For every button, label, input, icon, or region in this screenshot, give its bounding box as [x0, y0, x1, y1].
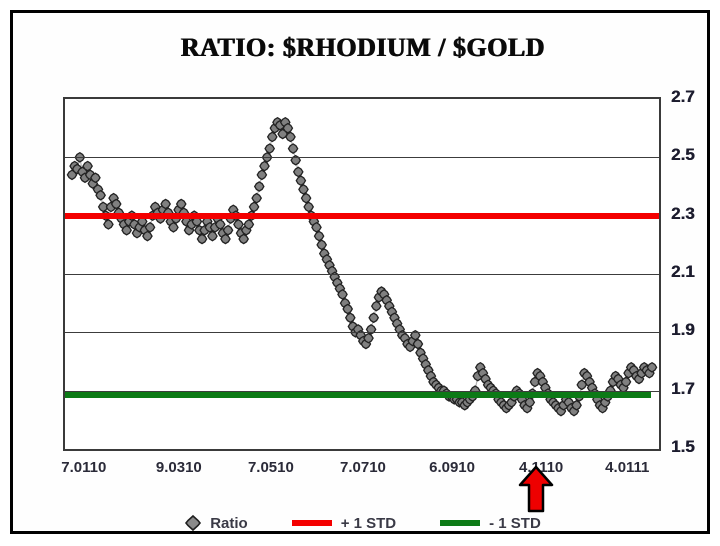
green-line-swatch-icon: [440, 520, 480, 526]
y-axis-tick-label: 1.9: [671, 320, 720, 340]
data-point-marker: [369, 313, 378, 322]
y-axis-tick-label: 1.7: [671, 379, 720, 399]
y-axis-tick-label: 2.7: [671, 87, 720, 107]
x-axis-tick-label: 9.0310: [156, 459, 202, 476]
y-axis-tick-label: 2.3: [671, 204, 720, 224]
data-point-marker: [647, 363, 656, 372]
data-point-marker: [83, 161, 92, 170]
data-point-marker: [525, 398, 534, 407]
x-axis-tick-label: 7.0510: [248, 459, 294, 476]
x-axis-tick-label: 7.0710: [340, 459, 386, 476]
data-point-marker: [572, 401, 581, 410]
data-point-marker: [122, 226, 131, 235]
y-axis-tick-label: 2.5: [671, 145, 720, 165]
data-point-marker: [104, 220, 113, 229]
data-point-marker: [294, 167, 303, 176]
y-axis-tick-label: 1.5: [671, 437, 720, 457]
data-point-marker: [91, 173, 100, 182]
data-point-marker: [177, 199, 186, 208]
legend-label-ratio: Ratio: [210, 515, 248, 532]
chart-frame: RATIO: $RHODIUM / $GOLD 2.72.52.32.11.91…: [10, 10, 710, 534]
data-point-marker: [161, 199, 170, 208]
data-point-marker: [301, 194, 310, 203]
gridline: [65, 332, 659, 333]
data-point-marker: [338, 290, 347, 299]
data-point-marker: [314, 231, 323, 240]
data-point-marker: [257, 170, 266, 179]
x-axis-tick-label: 6.0910: [429, 459, 475, 476]
gridline: [65, 274, 659, 275]
data-point-marker: [286, 132, 295, 141]
data-point-marker: [304, 202, 313, 211]
data-point-marker: [112, 199, 121, 208]
legend-item-ratio: Ratio: [185, 515, 248, 532]
data-point-marker: [299, 185, 308, 194]
data-point-marker: [169, 223, 178, 232]
data-point-marker: [296, 176, 305, 185]
data-point-marker: [223, 226, 232, 235]
data-point-marker: [312, 223, 321, 232]
data-point-marker: [96, 191, 105, 200]
minus-1-std-line: [65, 392, 651, 398]
data-point-marker: [143, 231, 152, 240]
x-axis-tick-label: 4.0111: [605, 459, 649, 476]
legend-item-minus-1-std: - 1 STD: [440, 515, 541, 532]
legend-item-plus-1-std: + 1 STD: [292, 515, 396, 532]
data-point-marker: [413, 339, 422, 348]
data-point-marker: [221, 234, 230, 243]
x-axis-tick-label: 7.0110: [61, 459, 106, 476]
data-point-marker: [621, 377, 630, 386]
chart-screenshot: RATIO: $RHODIUM / $GOLD 2.72.52.32.11.91…: [0, 0, 720, 546]
legend-label-plus-1-std: + 1 STD: [341, 515, 396, 532]
data-point-marker: [208, 231, 217, 240]
data-point-marker: [255, 182, 264, 191]
data-point-marker: [234, 220, 243, 229]
data-point-marker: [346, 313, 355, 322]
red-line-swatch-icon: [292, 520, 332, 526]
gridline: [65, 157, 659, 158]
data-point-marker: [260, 161, 269, 170]
data-point-marker: [249, 202, 258, 211]
data-point-marker: [239, 234, 248, 243]
data-point-marker: [252, 194, 261, 203]
page-title: RATIO: $RHODIUM / $GOLD: [63, 33, 663, 63]
data-point-marker: [364, 334, 373, 343]
diamond-marker-icon: [185, 515, 201, 531]
data-point-marker: [145, 223, 154, 232]
plus-1-std-line: [65, 213, 659, 219]
chart-legend: Ratio + 1 STD - 1 STD: [31, 507, 695, 539]
data-point-marker: [197, 234, 206, 243]
data-point-marker: [265, 144, 274, 153]
data-point-marker: [343, 304, 352, 313]
data-point-marker: [216, 220, 225, 229]
data-point-marker: [317, 240, 326, 249]
data-point-marker: [268, 132, 277, 141]
data-point-marker: [283, 124, 292, 133]
y-axis-tick-label: 2.1: [671, 262, 720, 282]
plot-area: [63, 97, 661, 451]
ratio-connecting-line: [72, 122, 652, 411]
data-point-marker: [372, 301, 381, 310]
plot-inner: [65, 99, 659, 449]
data-point-marker: [288, 144, 297, 153]
data-point-marker: [244, 220, 253, 229]
red-up-arrow-annotation: [518, 465, 554, 513]
legend-label-minus-1-std: - 1 STD: [489, 515, 541, 532]
